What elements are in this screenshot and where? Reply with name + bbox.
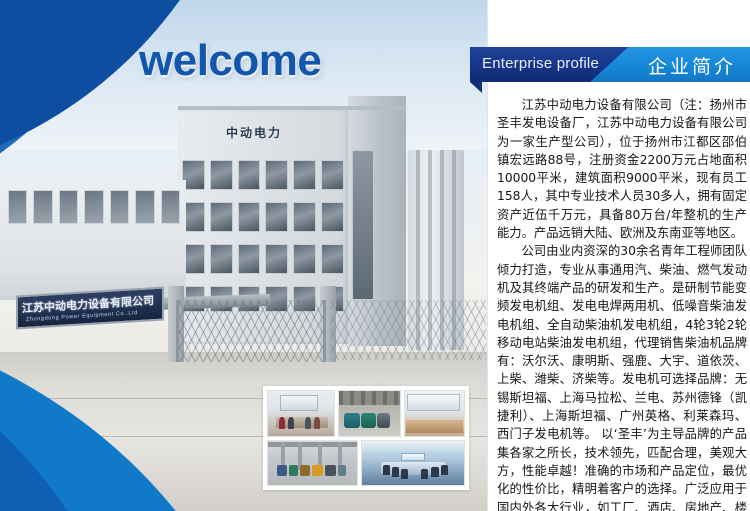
facility-photo-grid xyxy=(263,386,469,490)
company-profile-body: 江苏中动电力设备有限公司（注：扬州市圣丰发电设备厂，江苏中动电力设备有限公司为一… xyxy=(497,96,747,511)
meeting-room-photo xyxy=(267,390,335,437)
ribbon-label-chinese: 企业简介 xyxy=(648,52,736,79)
factory-perimeter-fence xyxy=(330,300,486,360)
building-window-row xyxy=(182,202,344,232)
conference-room-photo xyxy=(361,440,465,487)
page-title: welcome xyxy=(139,36,321,86)
ribbon-label-english: Enterprise profile xyxy=(482,55,599,72)
office-workspace-photo xyxy=(404,390,465,437)
factory-roofline xyxy=(178,106,406,110)
factory-gate-fence xyxy=(176,300,326,362)
section-header-ribbon: Enterprise profile 企业简介 xyxy=(470,47,750,82)
company-profile-banner: 中动电力 江苏中动电力设备有限公司 Zhongdong xyxy=(0,0,750,511)
profile-paragraph-2: 公司由业内资深的30余名青年工程师团队倾力打造，专业从事通用汽、柴油、燃气发动机… xyxy=(497,242,747,511)
generator-workshop-photo xyxy=(338,390,400,437)
ribbon-tail-shape xyxy=(470,82,482,93)
side-wing-window xyxy=(352,150,374,300)
building-window-row xyxy=(182,244,344,274)
building-window-row xyxy=(182,160,344,190)
building-sign-text: 中动电力 xyxy=(226,124,282,141)
left-office-windows xyxy=(8,190,180,224)
generator-warehouse-photo xyxy=(267,440,358,487)
profile-paragraph-1: 江苏中动电力设备有限公司（注：扬州市圣丰发电设备厂，江苏中动电力设备有限公司为一… xyxy=(497,96,747,242)
